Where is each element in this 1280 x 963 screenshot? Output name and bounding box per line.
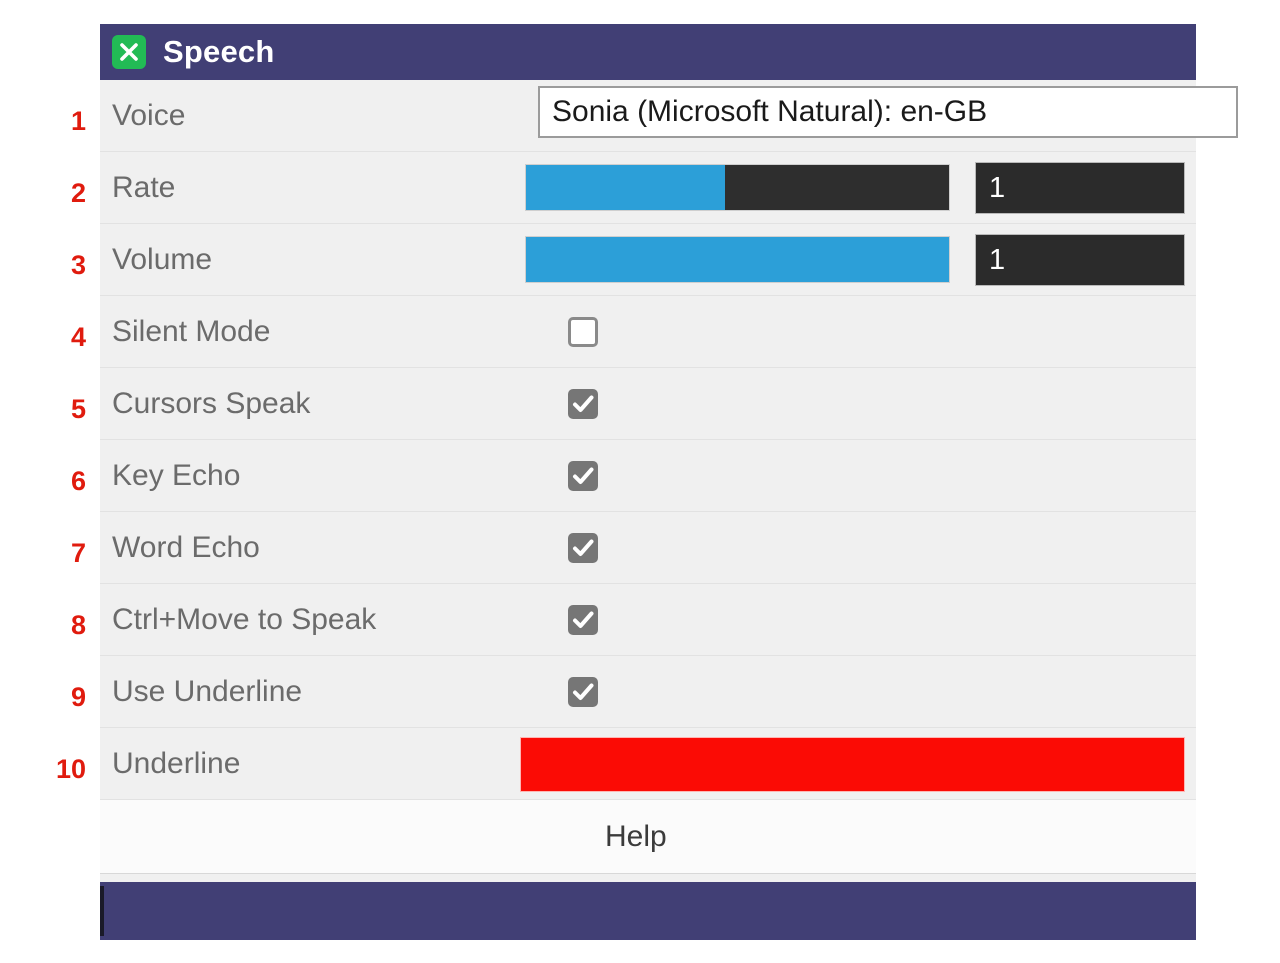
row-underline-color: Underline	[100, 728, 1196, 800]
control-silent-mode	[520, 296, 1196, 367]
volume-slider[interactable]	[525, 236, 950, 283]
volume-value-field[interactable]: 1	[975, 234, 1185, 286]
label-voice: Voice	[100, 99, 520, 133]
label-volume: Volume	[100, 243, 520, 277]
row-index-2: 2	[71, 180, 86, 207]
row-index-10: 10	[56, 756, 86, 783]
window-title: Speech	[163, 34, 274, 70]
label-use-underline: Use Underline	[100, 675, 520, 709]
voice-select[interactable]: Sonia (Microsoft Natural): en-GB	[538, 86, 1238, 138]
word-echo-checkbox[interactable]	[568, 533, 598, 563]
speech-settings-panel: Speech Voice Sonia (Microsoft Natural): …	[100, 24, 1196, 940]
close-x-icon[interactable]	[112, 35, 146, 69]
help-link[interactable]: Help	[605, 820, 667, 854]
row-ctrl-move-to-speak: Ctrl+Move to Speak	[100, 584, 1196, 656]
label-rate: Rate	[100, 171, 520, 205]
cursors-speak-checkbox[interactable]	[568, 389, 598, 419]
row-voice: Voice Sonia (Microsoft Natural): en-GB	[100, 80, 1196, 152]
use-underline-checkbox[interactable]	[568, 677, 598, 707]
control-rate: 1	[520, 152, 1196, 223]
row-index-8: 8	[71, 612, 86, 639]
control-underline-color	[520, 728, 1196, 799]
silent-mode-checkbox[interactable]	[568, 317, 598, 347]
row-index-7: 7	[71, 540, 86, 567]
row-silent-mode: Silent Mode	[100, 296, 1196, 368]
control-key-echo	[520, 440, 1196, 511]
help-row: Help	[100, 800, 1196, 874]
row-rate: Rate 1	[100, 152, 1196, 224]
row-index-9: 9	[71, 684, 86, 711]
control-voice: Sonia (Microsoft Natural): en-GB	[520, 80, 1196, 151]
label-silent-mode: Silent Mode	[100, 315, 520, 349]
label-underline-color: Underline	[100, 747, 520, 781]
ctrl-move-to-speak-checkbox[interactable]	[568, 605, 598, 635]
rate-slider-fill	[526, 165, 725, 210]
control-cursors-speak	[520, 368, 1196, 439]
row-cursors-speak: Cursors Speak	[100, 368, 1196, 440]
row-index-6: 6	[71, 468, 86, 495]
label-key-echo: Key Echo	[100, 459, 520, 493]
row-key-echo: Key Echo	[100, 440, 1196, 512]
window-titlebar: Speech	[100, 24, 1196, 80]
volume-slider-fill	[526, 237, 949, 282]
rate-slider[interactable]	[525, 164, 950, 211]
key-echo-checkbox[interactable]	[568, 461, 598, 491]
footer-bar	[100, 882, 1196, 940]
row-volume: Volume 1	[100, 224, 1196, 296]
row-word-echo: Word Echo	[100, 512, 1196, 584]
row-index-5: 5	[71, 396, 86, 423]
control-word-echo	[520, 512, 1196, 583]
row-index-4: 4	[71, 324, 86, 351]
footer-edge-marker	[100, 886, 104, 936]
row-index-3: 3	[71, 252, 86, 279]
control-ctrl-move-to-speak	[520, 584, 1196, 655]
rate-value-field[interactable]: 1	[975, 162, 1185, 214]
label-cursors-speak: Cursors Speak	[100, 387, 520, 421]
row-use-underline: Use Underline	[100, 656, 1196, 728]
label-ctrl-move-to-speak: Ctrl+Move to Speak	[100, 603, 520, 637]
label-word-echo: Word Echo	[100, 531, 520, 565]
control-use-underline	[520, 656, 1196, 727]
underline-color-swatch[interactable]	[520, 737, 1185, 792]
control-volume: 1	[520, 224, 1196, 295]
row-index-column: 1 2 3 4 5 6 7 8 9 10	[0, 88, 96, 818]
row-index-1: 1	[71, 108, 86, 135]
